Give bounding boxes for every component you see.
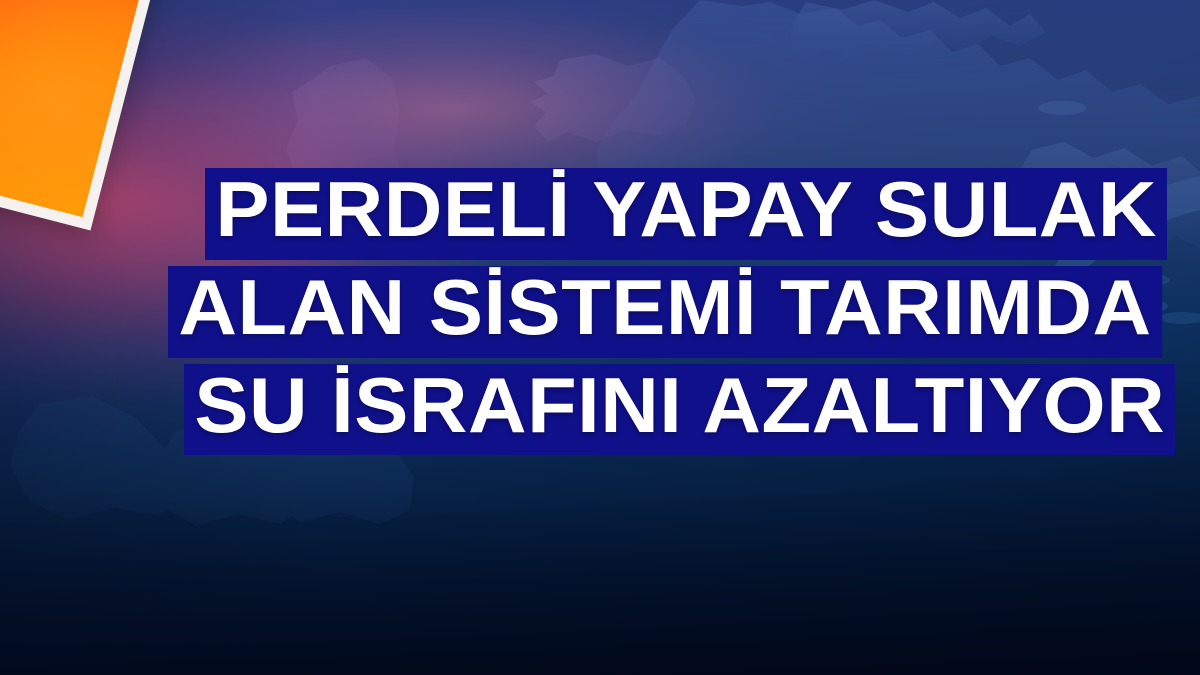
news-graphic: PERDELİ YAPAY SULAK ALAN SİSTEMİ TARIMDA… [0,0,1200,675]
island-dot [1038,101,1086,115]
headline-line-1-text: PERDELİ YAPAY SULAK [205,168,1167,260]
headline-line-2-text: ALAN SİSTEMİ TARIMDA [168,266,1162,358]
landmass-pale-centre [530,54,696,142]
headline-line-3-text: SU İSRAFINI AZALTIYOR [184,364,1176,456]
headline-line-1: PERDELİ YAPAY SULAK [0,168,1200,260]
headline-line-2: ALAN SİSTEMİ TARIMDA [0,266,1200,358]
landmass-arctic [788,0,1046,62]
headline: PERDELİ YAPAY SULAK ALAN SİSTEMİ TARIMDA… [0,168,1200,461]
headline-line-3: SU İSRAFINI AZALTIYOR [0,364,1200,456]
